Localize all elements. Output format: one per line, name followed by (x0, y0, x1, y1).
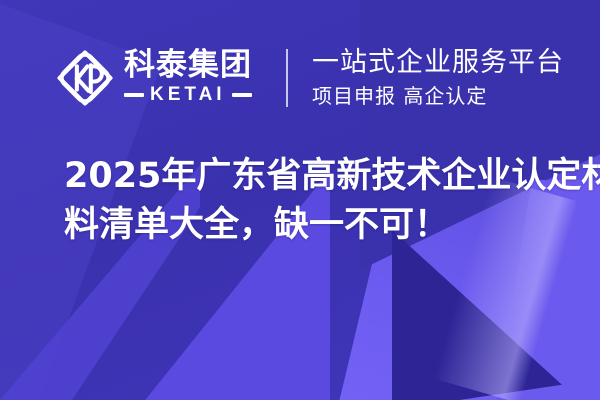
ketai-kp-diamond-logo-icon (56, 49, 114, 107)
brand-name-cn: 科泰集团 (124, 50, 252, 82)
brand-name-en: KETAI (150, 84, 226, 106)
brand-rule-left-icon (124, 93, 144, 97)
tagline-sub: 项目申报 高企认定 (312, 83, 564, 109)
brand-divider (286, 49, 288, 107)
tagline-main: 一站式企业服务平台 (312, 47, 564, 78)
brand-rule-right-icon (232, 93, 252, 97)
headline-line-2: 料清单大全，缺一不可！ (64, 201, 584, 250)
headline-line-1: 2025年广东省高新技术企业认定材 (64, 152, 584, 201)
headline: 2025年广东省高新技术企业认定材 料清单大全，缺一不可！ (64, 152, 584, 250)
brand-header: 科泰集团 KETAI 一站式企业服务平台 项目申报 高企认定 (56, 38, 564, 118)
brand-wordmark: 科泰集团 KETAI (124, 50, 252, 107)
tagline-block: 一站式企业服务平台 项目申报 高企认定 (312, 47, 564, 108)
brand-name-en-row: KETAI (124, 84, 252, 106)
promo-banner: 科泰集团 KETAI 一站式企业服务平台 项目申报 高企认定 2025年广东省高… (0, 0, 600, 400)
